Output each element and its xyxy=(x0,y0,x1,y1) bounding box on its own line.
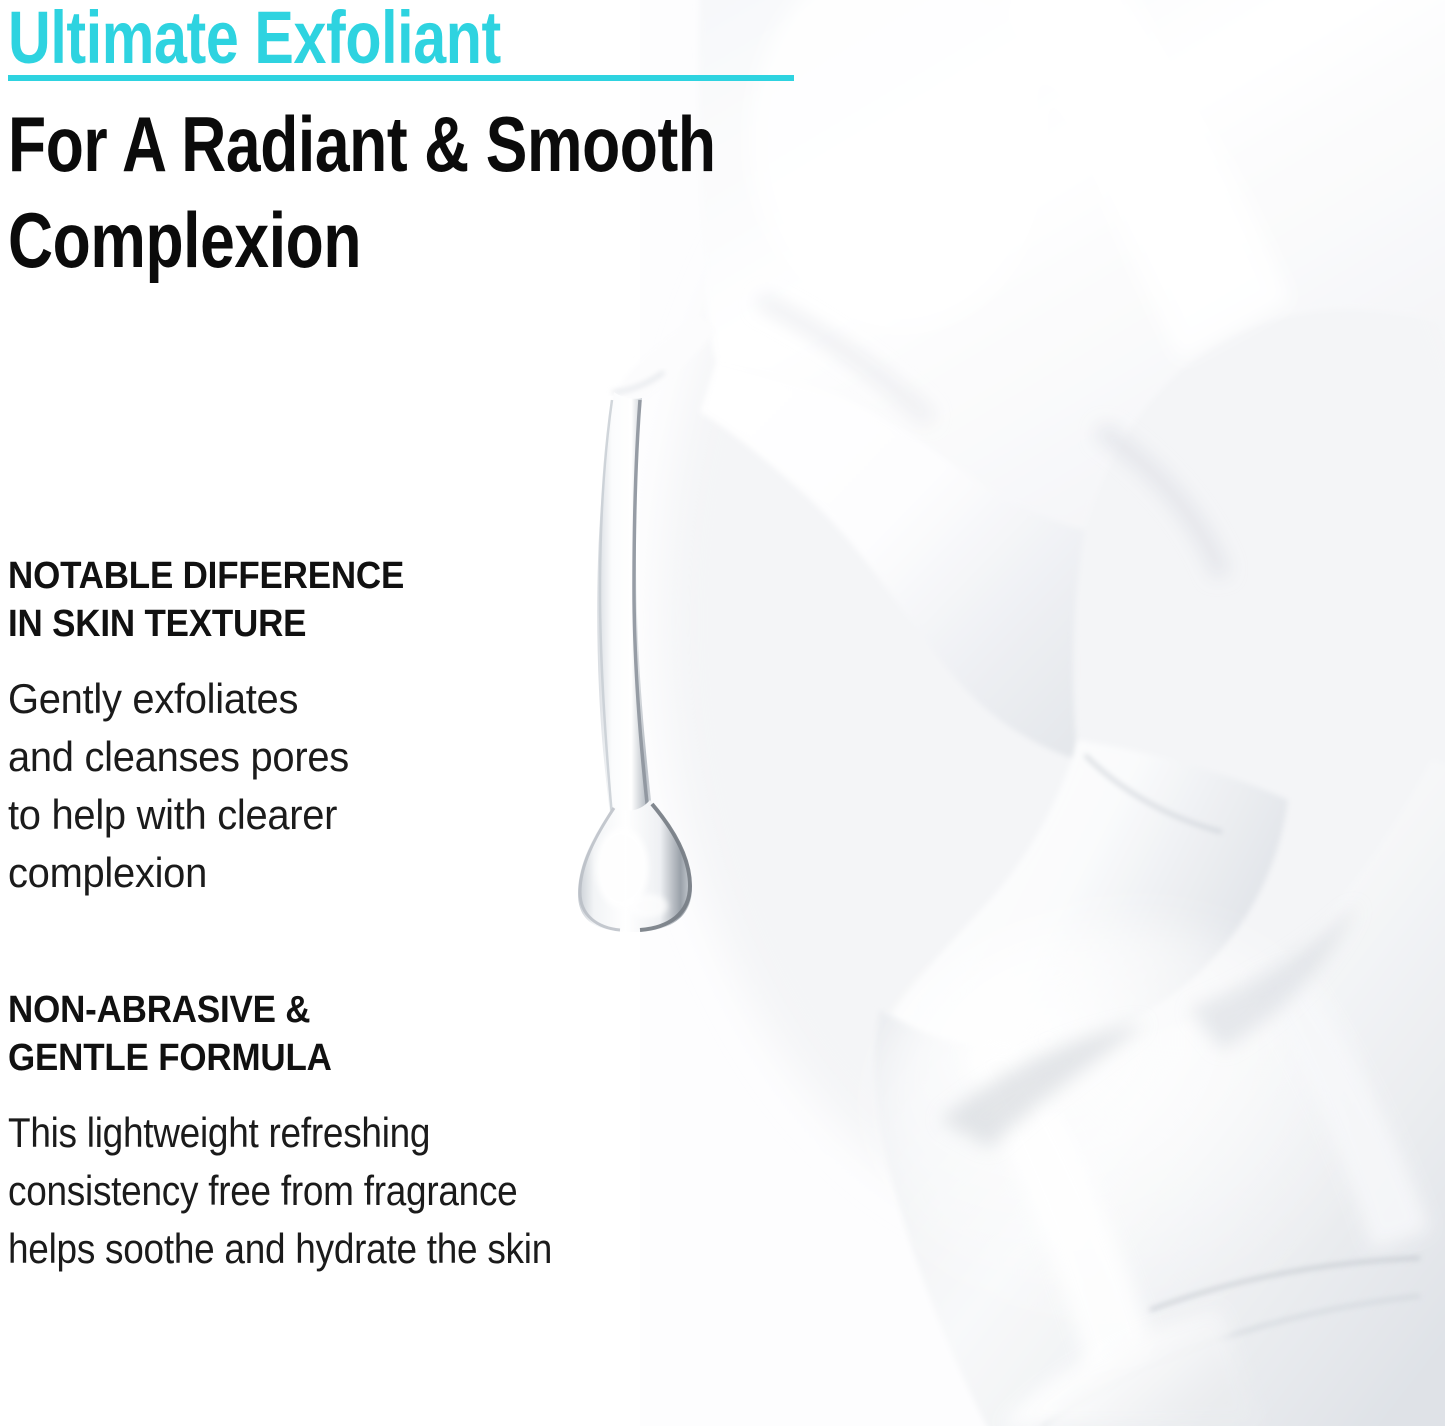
feature-list: NOTABLE DIFFERENCE IN SKIN TEXTURE Gentl… xyxy=(8,552,768,1278)
headline-block: Ultimate Exfoliant For A Radiant & Smoot… xyxy=(8,0,1128,288)
bottle-body xyxy=(875,760,1445,1426)
feature-body: Gently exfoliates and cleanses pores to … xyxy=(8,670,730,902)
product-marketing-image: Ultimate Exfoliant For A Radiant & Smoot… xyxy=(0,0,1445,1426)
pump-nozzle xyxy=(612,316,716,408)
feature-spacer xyxy=(8,962,768,986)
feature-skin-texture: NOTABLE DIFFERENCE IN SKIN TEXTURE Gentl… xyxy=(8,552,768,902)
product-kicker: Ultimate Exfoliant xyxy=(8,0,501,80)
page-title: For A Radiant & Smooth Complexion xyxy=(8,96,904,288)
bottle-collar xyxy=(892,740,1288,1049)
feature-gentle-formula: NON-ABRASIVE & GENTLE FORMULA This light… xyxy=(8,986,768,1278)
kicker-underline-rule xyxy=(8,75,794,81)
feature-body: This lightweight refreshing consistency … xyxy=(8,1104,677,1278)
feature-heading: NON-ABRASIVE & GENTLE FORMULA xyxy=(8,986,707,1082)
pump-head-crease xyxy=(760,300,1222,575)
feature-heading: NOTABLE DIFFERENCE IN SKIN TEXTURE xyxy=(8,552,707,648)
